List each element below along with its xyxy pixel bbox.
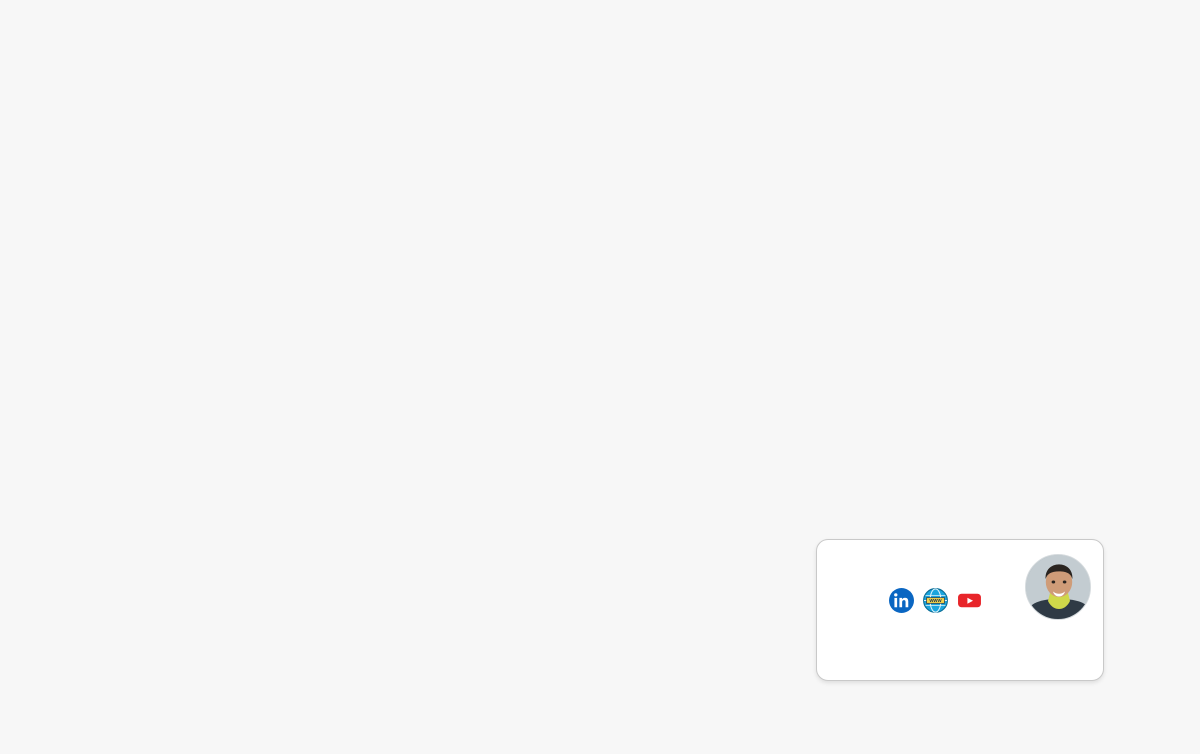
brand-footer: WWW xyxy=(817,558,1103,624)
brand-card: WWW xyxy=(816,539,1104,681)
linkedin-icon[interactable] xyxy=(889,588,914,613)
website-www-icon[interactable]: WWW xyxy=(923,588,948,613)
social-links: WWW xyxy=(889,588,982,613)
youtube-icon[interactable] xyxy=(957,588,982,613)
avatar xyxy=(1025,554,1091,620)
cheat-sheet-canvas: WWW xyxy=(0,0,1200,754)
svg-text:WWW: WWW xyxy=(929,598,942,603)
